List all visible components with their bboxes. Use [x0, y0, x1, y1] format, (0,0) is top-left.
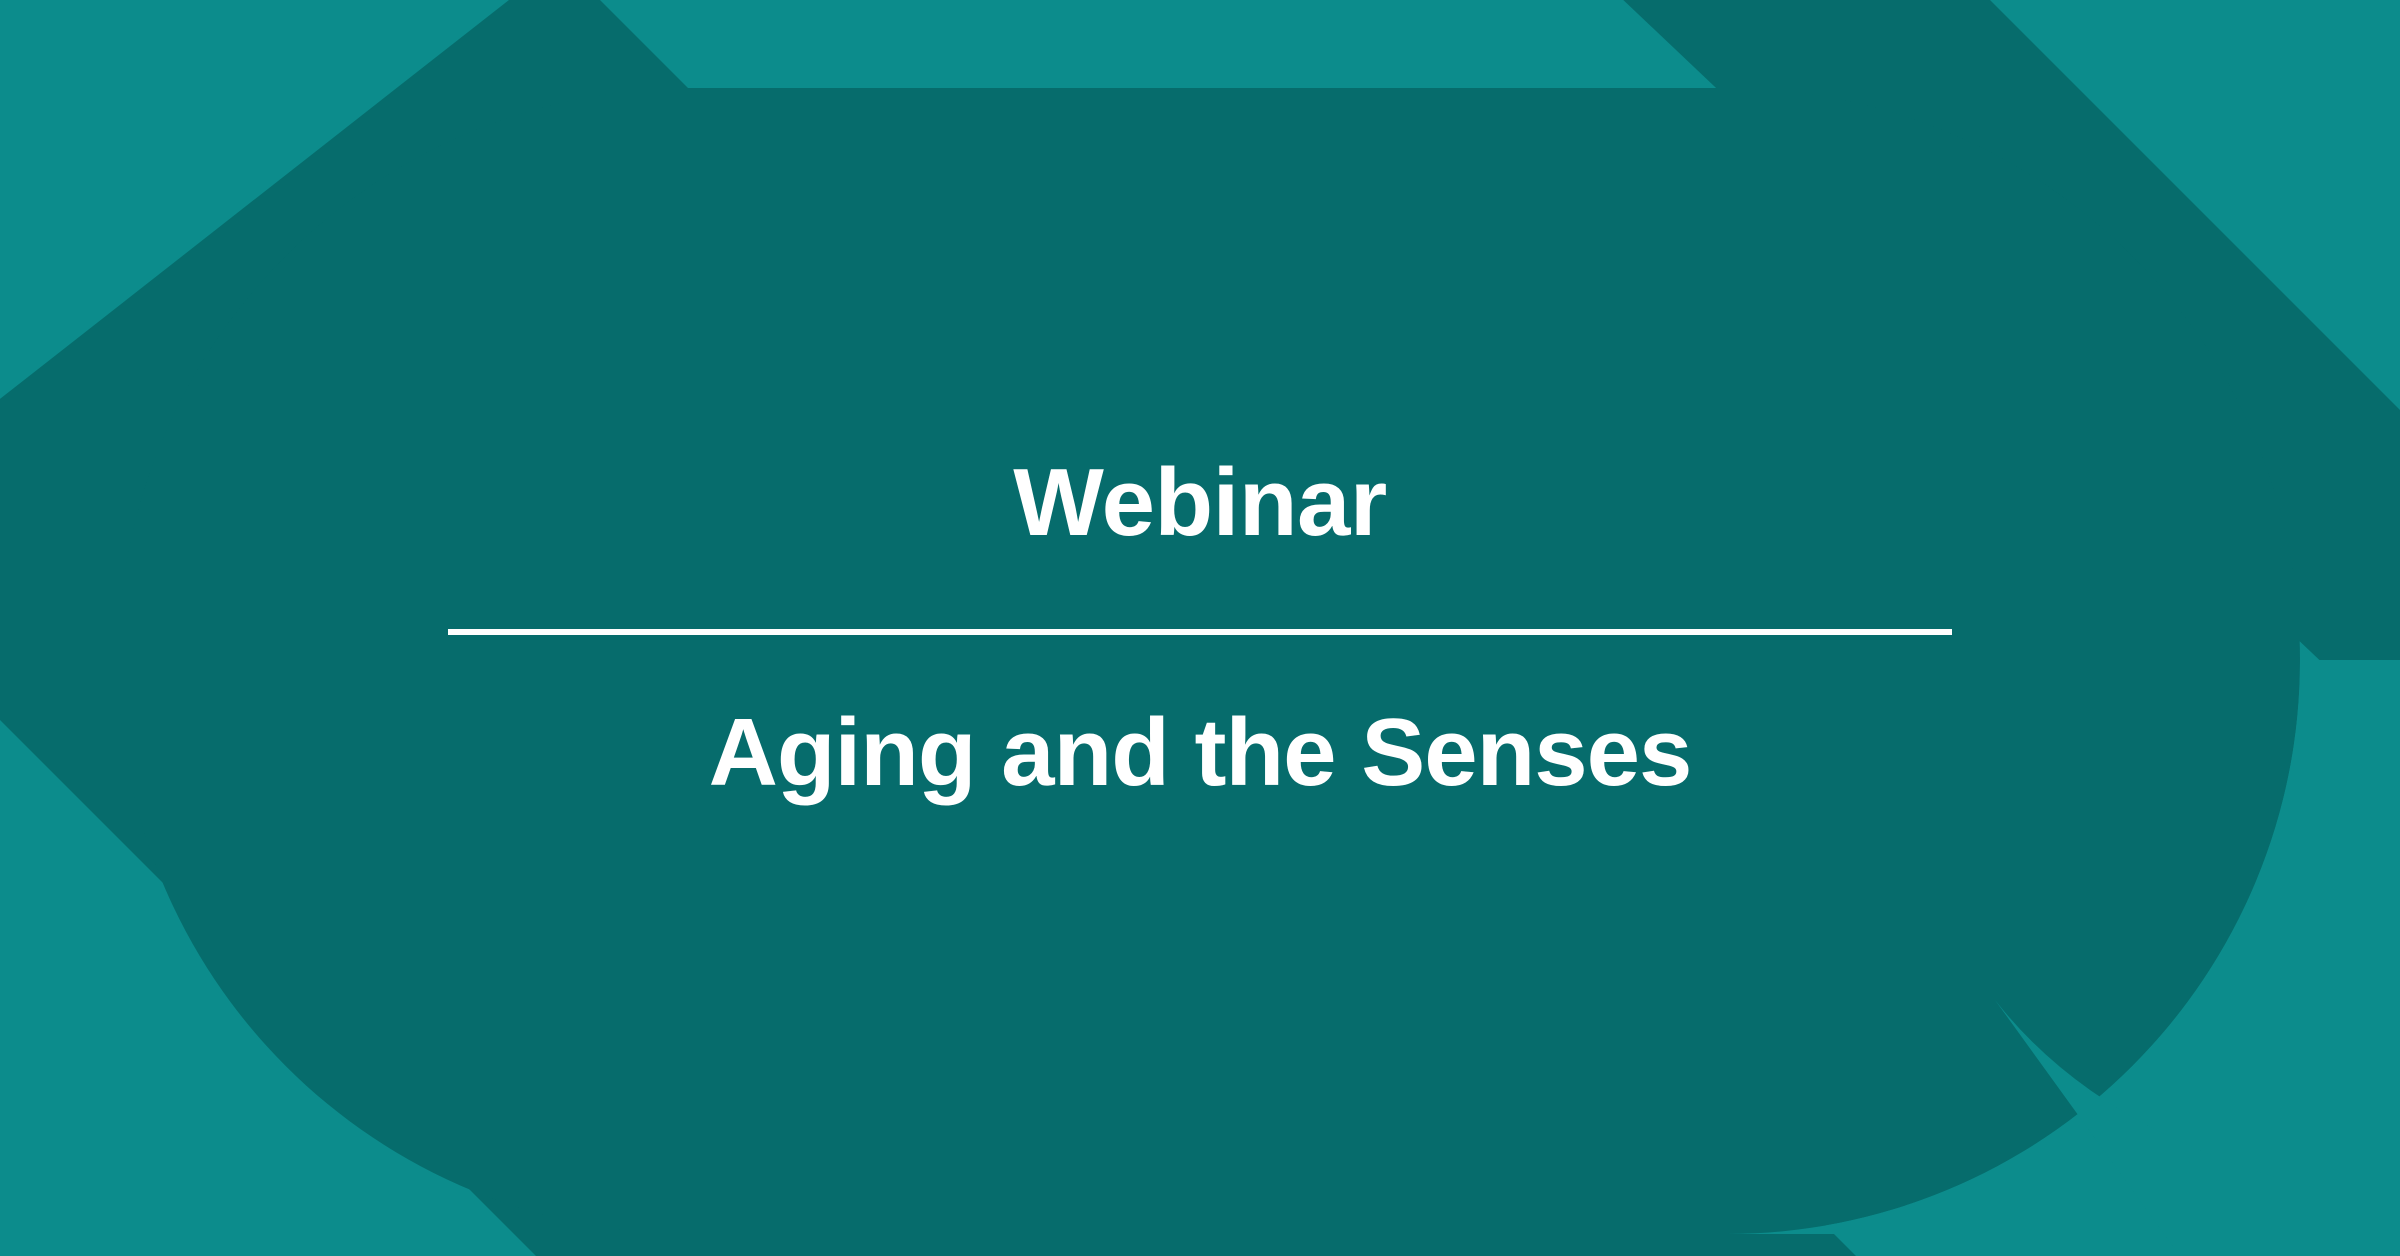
title-divider	[448, 629, 1952, 635]
kicker-label: Webinar	[1013, 455, 1386, 551]
page-title: Aging and the Senses	[709, 705, 1692, 801]
card-content: Webinar Aging and the Senses	[0, 0, 2400, 1256]
webinar-title-card: Webinar Aging and the Senses	[0, 0, 2400, 1256]
